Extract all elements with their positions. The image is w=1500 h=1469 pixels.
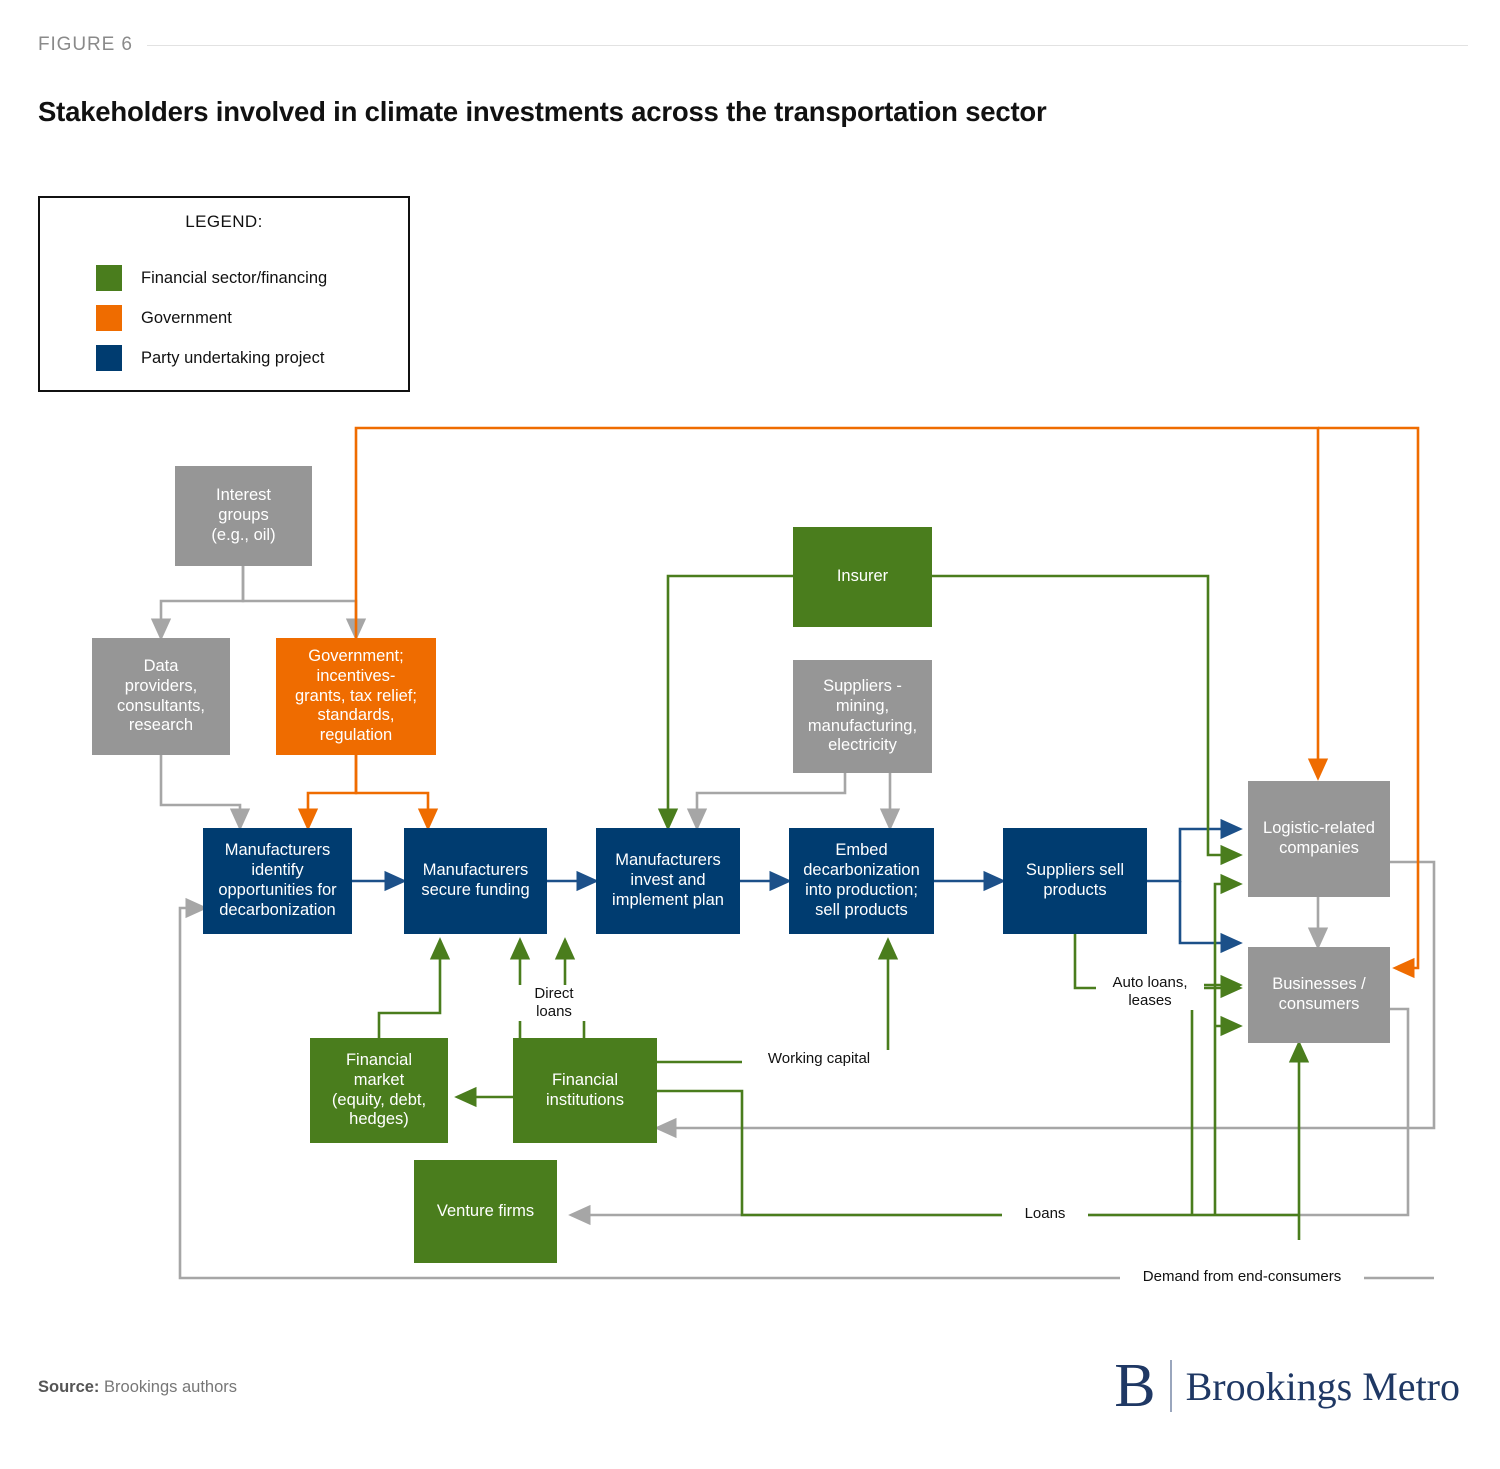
node-government[interactable]: Government;incentives-grants, tax relief… — [276, 638, 436, 755]
node-manufacturers-secure-funding[interactable]: Manufacturerssecure funding — [404, 828, 547, 934]
node-venture-firms[interactable]: Venture firms — [414, 1160, 557, 1263]
edge-label-working-capital: Working capital — [742, 1050, 896, 1068]
node-financial-institutions[interactable]: Financialinstitutions — [513, 1038, 657, 1143]
edge-label-demand-end-consumers: Demand from end-consumers — [1120, 1268, 1364, 1286]
node-financial-market[interactable]: Financialmarket(equity, debt,hedges) — [310, 1038, 448, 1143]
edge-label-loans: Loans — [1002, 1205, 1088, 1223]
node-businesses-consumers[interactable]: Businesses /consumers — [1248, 947, 1390, 1043]
node-manufacturers-identify[interactable]: Manufacturersidentifyopportunities forde… — [203, 828, 352, 934]
node-data-providers[interactable]: Dataproviders,consultants,research — [92, 638, 230, 755]
stakeholder-flow-diagram: Interestgroups(e.g., oil) Dataproviders,… — [0, 0, 1500, 1469]
node-interest-groups[interactable]: Interestgroups(e.g., oil) — [175, 466, 312, 566]
node-manufacturers-invest[interactable]: Manufacturersinvest andimplement plan — [596, 828, 740, 934]
node-embed-decarbonization[interactable]: Embeddecarbonizationinto production;sell… — [789, 828, 934, 934]
edge-label-auto-loans-leases: Auto loans,leases — [1096, 974, 1204, 1010]
node-suppliers-sell[interactable]: Suppliers sellproducts — [1003, 828, 1147, 934]
edge-label-direct-loans: Directloans — [516, 985, 592, 1021]
node-logistic-companies[interactable]: Logistic-relatedcompanies — [1248, 781, 1390, 897]
node-insurer[interactable]: Insurer — [793, 527, 932, 627]
node-suppliers-mining[interactable]: Suppliers -mining,manufacturing,electric… — [793, 660, 932, 773]
